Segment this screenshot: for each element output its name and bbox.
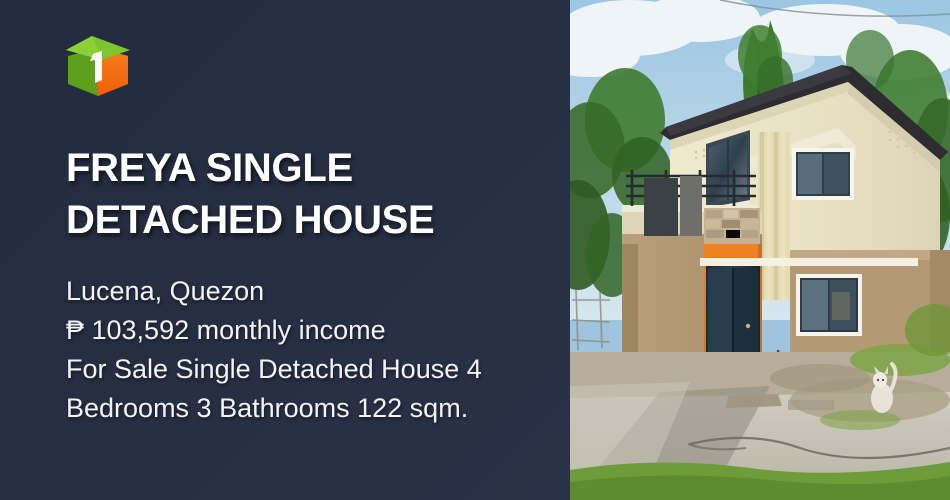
property-listing-card: FREYA SINGLE DETACHED HOUSE Lucena, Quez… [0,0,950,500]
doormat [726,394,782,408]
info-panel: FREYA SINGLE DETACHED HOUSE Lucena, Quez… [0,0,570,500]
property-photo [570,0,950,500]
page-title: FREYA SINGLE DETACHED HOUSE [66,142,536,246]
door-header-trim [700,258,918,266]
listing-description: For Sale Single Detached House 4 Bedroom… [66,350,546,428]
lower-window [796,274,862,336]
listing-income: ₱ 103,592 monthly income [66,311,546,350]
stone-panel [704,208,760,244]
fluted-column [758,132,790,300]
listing-details: Lucena, Quezon ₱ 103,592 monthly income … [66,272,546,428]
listing-location: Lucena, Quezon [66,272,546,311]
house-logo-icon[interactable] [62,28,134,102]
